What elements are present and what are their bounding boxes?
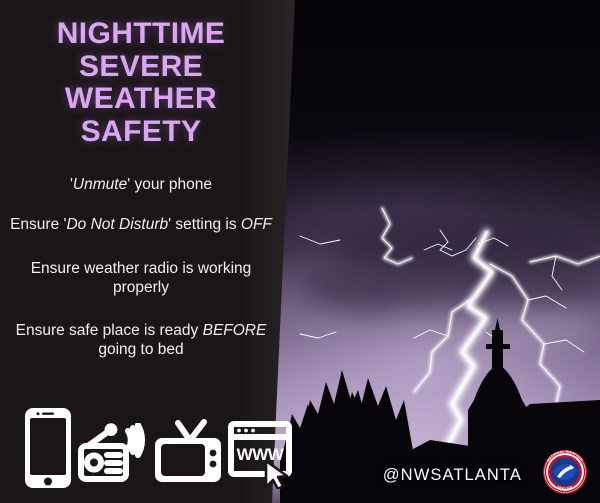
alert-channel-icons: WWW: [0, 405, 300, 497]
tip-unmute-post: ' your phone: [127, 176, 212, 193]
tip-radio-text: Ensure weather radio is working properly: [31, 260, 252, 296]
television-icon: [152, 419, 228, 485]
cloud-band: [380, 300, 600, 346]
title-line-2: SEVERE: [14, 51, 268, 84]
tip-dnd-post: ' setting is: [168, 216, 241, 233]
tip-dnd-pre: Ensure ': [10, 216, 66, 233]
safety-tips-list: 'Unmute' your phone Ensure 'Do Not Distu…: [0, 176, 282, 360]
list-item: Ensure safe place is ready BEFORE going …: [0, 322, 282, 359]
title-line-1: NIGHTTIME: [14, 18, 268, 51]
smartphone-icon: [22, 405, 74, 491]
cloud-band: [330, 228, 600, 274]
tip-dnd-emphasis: Do Not Disturb: [66, 216, 168, 233]
cursor-arrow-icon: [266, 461, 287, 489]
title-line-4: SAFETY: [14, 116, 268, 149]
list-item: 'Unmute' your phone: [0, 176, 282, 195]
nws-nighttime-severe-weather-safety-graphic: NIGHTTIME SEVERE WEATHER SAFETY 'Unmute'…: [0, 0, 600, 503]
social-handle: @NWSATLANTA: [383, 466, 522, 485]
tip-safeplace-emphasis: BEFORE: [203, 322, 267, 339]
tip-safeplace-pre: Ensure safe place is ready: [16, 322, 203, 339]
page-title: NIGHTTIME SEVERE WEATHER SAFETY: [0, 0, 282, 149]
list-item: Ensure weather radio is working properly: [0, 260, 282, 297]
list-item: Ensure 'Do Not Disturb' setting is OFF: [0, 216, 282, 235]
title-line-3: WEATHER: [14, 83, 268, 116]
panel-content: NIGHTTIME SEVERE WEATHER SAFETY 'Unmute'…: [0, 0, 282, 503]
tip-safeplace-post: going to bed: [98, 341, 183, 358]
tip-dnd-emphasis-2: OFF: [241, 216, 272, 233]
radio-icon: [78, 423, 148, 483]
tip-unmute-emphasis: Unmute: [73, 176, 127, 193]
browser-www-label: WWW: [237, 445, 285, 464]
browser-www-icon: WWW: [228, 421, 300, 489]
nws-seal-logo: NATIONAL WEATHER SERVICE: [542, 449, 588, 495]
cloud-band: [300, 250, 600, 320]
cloud-band: [290, 196, 490, 236]
